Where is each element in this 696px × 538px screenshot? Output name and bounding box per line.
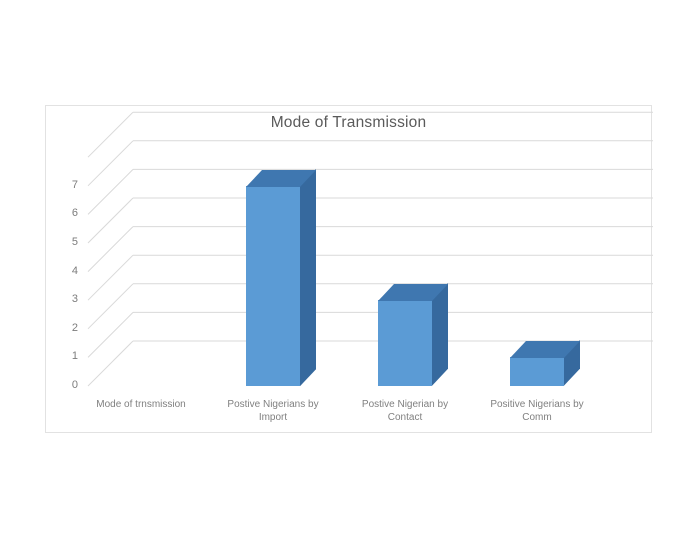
bar-3: [510, 341, 580, 386]
bar-front-face: [378, 300, 432, 386]
chart-container: Mode of Transmission 01234567 Mode of tr…: [45, 105, 652, 433]
y-tick-label: 3: [52, 294, 78, 305]
y-tick-label: 5: [52, 237, 78, 248]
x-axis-label-line: Import: [213, 411, 333, 424]
y-tick-label: 7: [52, 180, 78, 191]
x-axis-label-0: Mode of trnsmission: [81, 398, 201, 411]
plot-area: 01234567 Mode of trnsmissionPostive Nige…: [46, 106, 653, 434]
y-tick-label: 1: [52, 351, 78, 362]
y-tick-label: 4: [52, 266, 78, 277]
x-axis-label-line: Postive Nigerians by: [213, 398, 333, 411]
bar-top-face: [378, 284, 449, 302]
x-axis-label-line: Contact: [345, 411, 465, 424]
x-axis-label-3: Positive Nigerians byComm: [477, 398, 597, 424]
x-axis-label-line: Comm: [477, 411, 597, 424]
bar-front-face: [510, 357, 564, 386]
bar-side-face: [300, 169, 317, 386]
x-axis-label-2: Postive Nigerian byContact: [345, 398, 465, 424]
x-axis-label-line: Postive Nigerian by: [345, 398, 465, 411]
y-tick-label: 6: [52, 208, 78, 219]
x-axis-label-line: Positive Nigerians by: [477, 398, 597, 411]
bar-2: [378, 284, 448, 386]
bar-1: [246, 170, 316, 386]
bar-top-face: [510, 341, 581, 359]
x-axis-label-line: Mode of trnsmission: [81, 398, 201, 411]
x-axis-label-1: Postive Nigerians byImport: [213, 398, 333, 424]
y-tick-label: 2: [52, 323, 78, 334]
bar-front-face: [246, 186, 300, 386]
bar-top-face: [246, 170, 317, 188]
y-tick-label: 0: [52, 380, 78, 391]
